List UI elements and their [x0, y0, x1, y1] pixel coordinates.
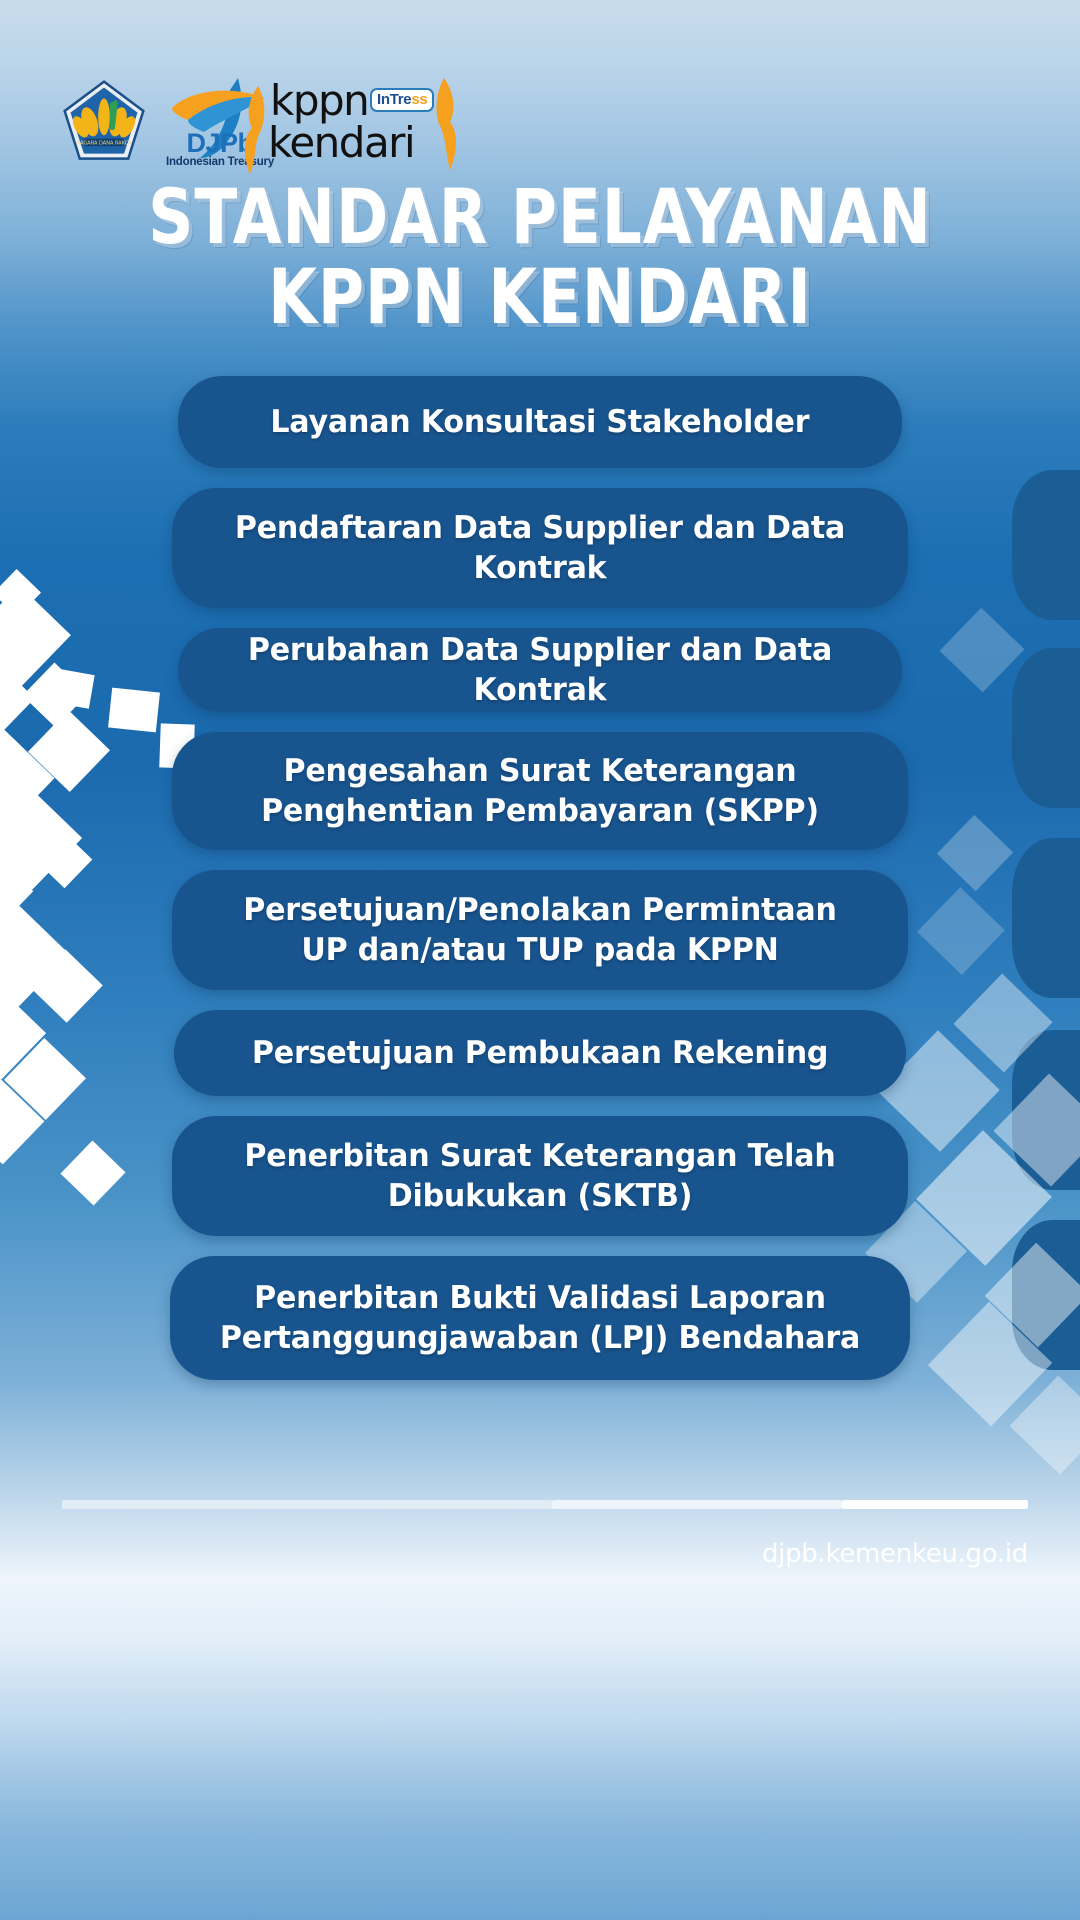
service-card-label: Pendaftaran Data Supplier dan Data Kontr… — [216, 508, 864, 588]
kendari-label: kendari — [268, 122, 414, 164]
service-list: Layanan Konsultasi Stakeholder Pendaftar… — [0, 376, 1080, 1400]
footer-bar-segment — [552, 1500, 842, 1509]
service-card[interactable]: Persetujuan Pembukaan Rekening — [174, 1010, 906, 1096]
service-card-label: Pengesahan Surat Keterangan Penghentian … — [216, 751, 864, 831]
intress-badge-suffix: ss — [411, 91, 427, 108]
footer-divider — [0, 1500, 1080, 1510]
service-card[interactable]: Layanan Konsultasi Stakeholder — [178, 376, 902, 468]
header-logo-bar: NAGARA DANA RAKCA DJPb Indonesian Treasu… — [0, 36, 1080, 146]
service-card[interactable]: Pengesahan Surat Keterangan Penghentian … — [172, 732, 908, 850]
kemenkeu-garuda-logo-icon: NAGARA DANA RAKCA — [62, 80, 146, 162]
poster-title-line-1: STANDAR PELAYANAN — [43, 176, 1037, 258]
footer-website-link[interactable]: djpb.kemenkeu.go.id — [762, 1539, 1028, 1569]
service-card-label: Persetujuan Pembukaan Rekening — [252, 1033, 828, 1073]
kppn-label: kppn — [270, 80, 368, 122]
kppn-kendari-wordmark: kppn kendari InTress — [256, 76, 446, 176]
poster-title-line-2: KPPN KENDARI — [43, 256, 1037, 338]
footer-bar-segment — [842, 1500, 1028, 1509]
service-card-label: Penerbitan Surat Keterangan Telah Dibuku… — [216, 1136, 864, 1216]
service-card-label: Persetujuan/Penolakan Permintaan UP dan/… — [216, 890, 864, 970]
intress-badge: InTress — [370, 88, 434, 112]
service-card-label: Perubahan Data Supplier dan Data Kontrak — [222, 630, 858, 710]
service-card[interactable]: Penerbitan Bukti Validasi Laporan Pertan… — [170, 1256, 910, 1380]
service-card[interactable]: Pendaftaran Data Supplier dan Data Kontr… — [172, 488, 908, 608]
poster-root: NAGARA DANA RAKCA DJPb Indonesian Treasu… — [0, 0, 1080, 1920]
service-card-label: Layanan Konsultasi Stakeholder — [270, 402, 809, 442]
service-card-label: Penerbitan Bukti Validasi Laporan Pertan… — [214, 1278, 866, 1358]
service-card[interactable]: Penerbitan Surat Keterangan Telah Dibuku… — [172, 1116, 908, 1236]
footer-bar-segment — [62, 1500, 552, 1509]
intress-badge-prefix: InTre — [377, 91, 411, 108]
service-card[interactable]: Persetujuan/Penolakan Permintaan UP dan/… — [172, 870, 908, 990]
service-card[interactable]: Perubahan Data Supplier dan Data Kontrak — [178, 628, 902, 712]
svg-text:NAGARA DANA RAKCA: NAGARA DANA RAKCA — [76, 140, 132, 146]
